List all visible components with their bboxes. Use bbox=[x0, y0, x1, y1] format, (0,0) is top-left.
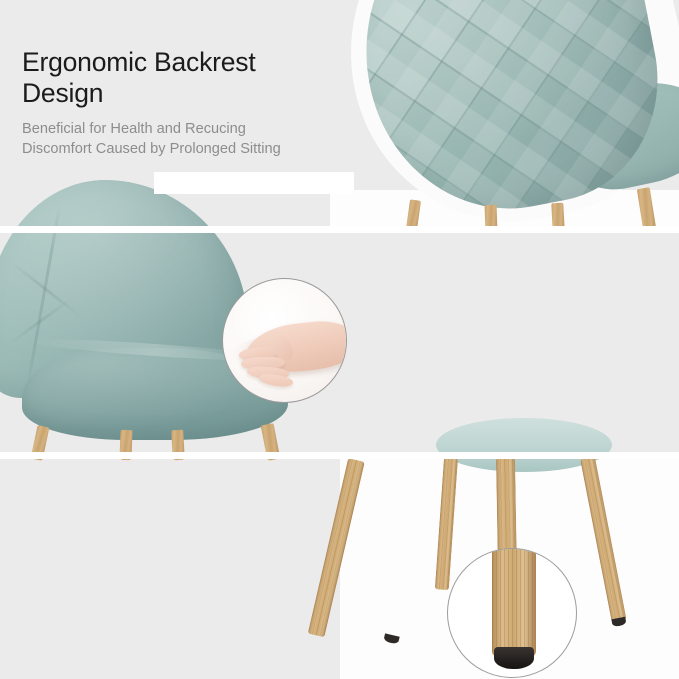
panel-divider bbox=[0, 452, 679, 459]
feature-title-1: Ergonomic Backrest Design bbox=[22, 47, 281, 109]
photo-white-gap bbox=[154, 172, 354, 194]
feature-subtitle-1: Beneficial for Health and Recucing Disco… bbox=[22, 120, 281, 159]
chair-leg bbox=[485, 205, 498, 226]
hand-pressing-foam-inset bbox=[222, 278, 347, 403]
panel-divider bbox=[0, 226, 679, 233]
magnified-anti-slip-cap bbox=[494, 647, 534, 669]
magnified-chair-leg bbox=[492, 548, 536, 657]
anti-slip-foot-cap-inset bbox=[447, 548, 577, 678]
chair-leg bbox=[551, 203, 564, 226]
chair-back-view-photo bbox=[330, 0, 679, 226]
feature-text-block-1: Ergonomic Backrest Design Beneficial for… bbox=[22, 47, 281, 159]
infographic-board: Ergonomic Backrest Design Beneficial for… bbox=[0, 0, 679, 679]
